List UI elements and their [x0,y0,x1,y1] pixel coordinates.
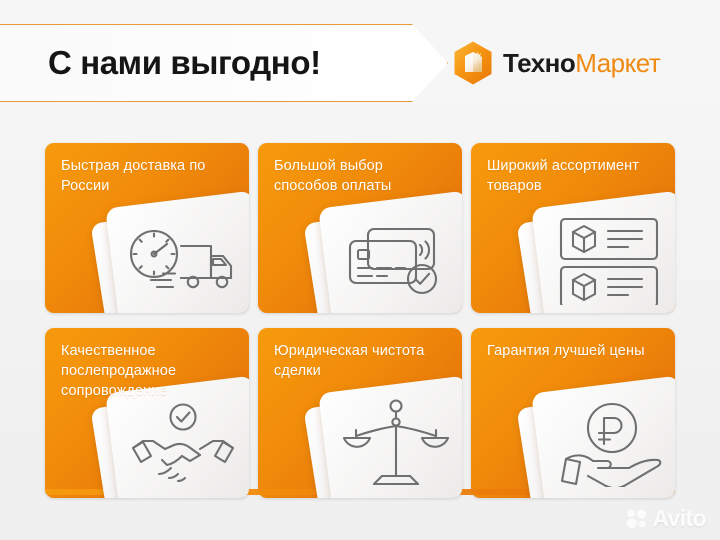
avito-dots-icon [626,508,647,529]
brand-name-part1: Техно [503,48,575,78]
promo-banner-page: С нами выгодно! ТехноМарк [0,0,720,540]
brand-logo[interactable]: ТехноМаркет [452,40,660,86]
avito-watermark: Avito [626,507,706,530]
benefit-card-title: Качественное послепродажное сопровождени… [61,341,235,401]
credit-card-check-icon [340,219,452,299]
benefit-card-title: Юридическая чистота сделки [274,341,448,381]
benefit-card-payment[interactable]: Большой выбор способов оплаты [258,143,462,313]
scales-justice-icon [342,398,450,490]
box-list-icon [553,213,665,305]
brand-name-part2: Маркет [575,48,660,78]
hexagon-box-icon [452,40,494,86]
benefit-card-aftersales[interactable]: Качественное послепродажное сопровождени… [45,328,249,498]
handshake-check-icon [127,402,239,486]
paper-front-shape [318,190,462,313]
paper-front-shape [531,190,675,313]
brand-name: ТехноМаркет [503,50,660,76]
benefit-card-title: Быстрая доставка по России [61,156,235,196]
paper-front-shape [105,190,249,313]
benefit-card-delivery[interactable]: Быстрая доставка по России [45,143,249,313]
page-title: С нами выгодно! [48,44,321,82]
benefit-card-assortment[interactable]: Широкий ассортимент товаров [471,143,675,313]
benefits-grid: Быстрая доставка по России [45,143,675,498]
benefit-card-legal[interactable]: Юридическая чистота сделки [258,328,462,498]
paper-front-shape [531,375,675,498]
header-banner: С нами выгодно! [0,24,448,102]
avito-watermark-text: Avito [652,507,706,530]
hand-ruble-coin-icon [554,401,664,487]
benefit-card-title: Большой выбор способов оплаты [274,156,448,196]
benefit-card-title: Гарантия лучшей цены [487,341,661,361]
paper-front-shape [318,375,462,498]
benefit-card-title: Широкий ассортимент товаров [487,156,661,196]
benefit-card-best-price[interactable]: Гарантия лучшей цены [471,328,675,498]
clock-truck-icon [123,220,243,298]
